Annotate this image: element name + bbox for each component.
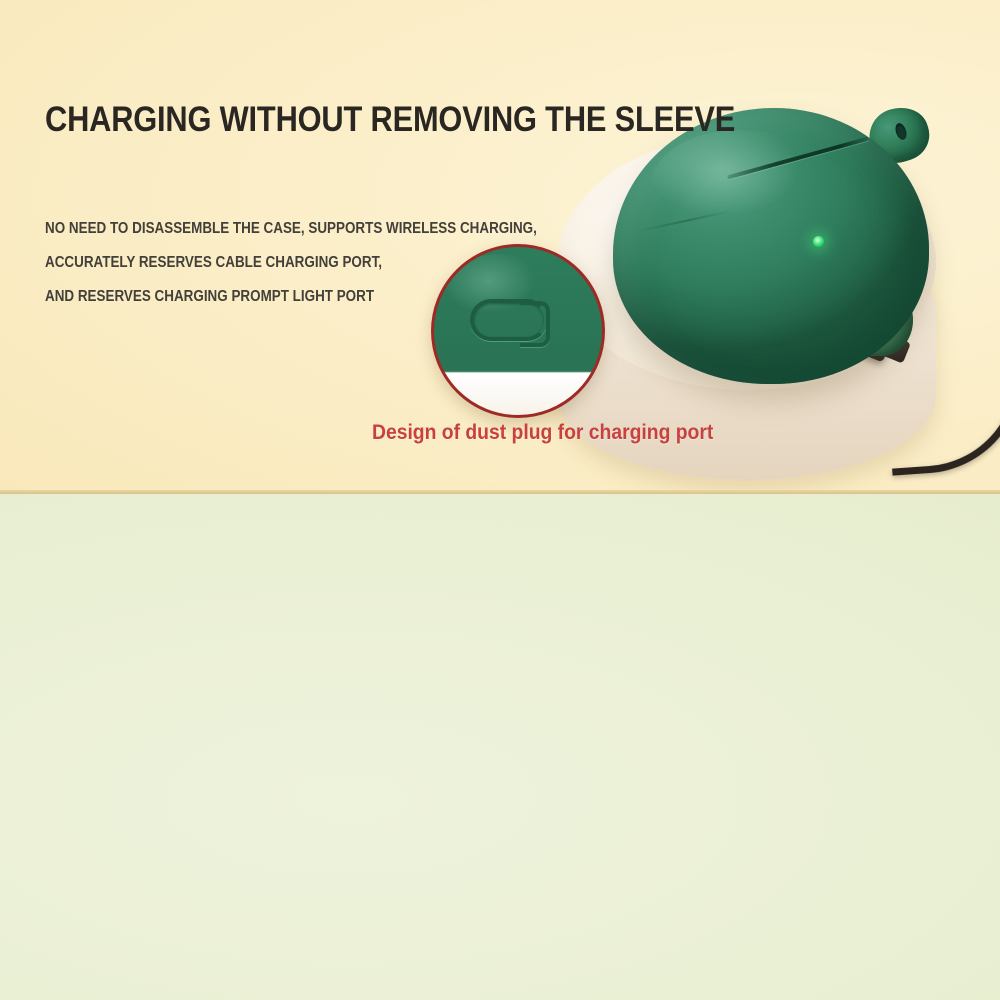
- charging-indicator-led: [813, 236, 824, 247]
- bottom-panel: SUPPORT WIRELESS CHARGING PUT IT DOWN AN…: [0, 494, 1000, 1000]
- case-shell: [613, 108, 929, 384]
- top-body-line-3: AND RESERVES CHARGING PROMPT LIGHT PORT: [45, 280, 537, 314]
- top-body-text: NO NEED TO DISASSEMBLE THE CASE, SUPPORT…: [45, 212, 537, 314]
- green-silicone-earbud-case: [613, 108, 929, 384]
- top-body-line-1: NO NEED TO DISASSEMBLE THE CASE, SUPPORT…: [45, 212, 537, 246]
- dust-plug-caption: Design of dust plug for charging port: [372, 421, 713, 445]
- page-title-top: CHARGING WITHOUT REMOVING THE SLEEVE: [45, 100, 735, 140]
- top-panel: CHARGING WITHOUT REMOVING THE SLEEVE NO …: [0, 0, 1000, 494]
- product-infographic: CHARGING WITHOUT REMOVING THE SLEEVE NO …: [0, 0, 1000, 1000]
- top-body-line-2: ACCURATELY RESERVES CABLE CHARGING PORT,: [45, 246, 537, 280]
